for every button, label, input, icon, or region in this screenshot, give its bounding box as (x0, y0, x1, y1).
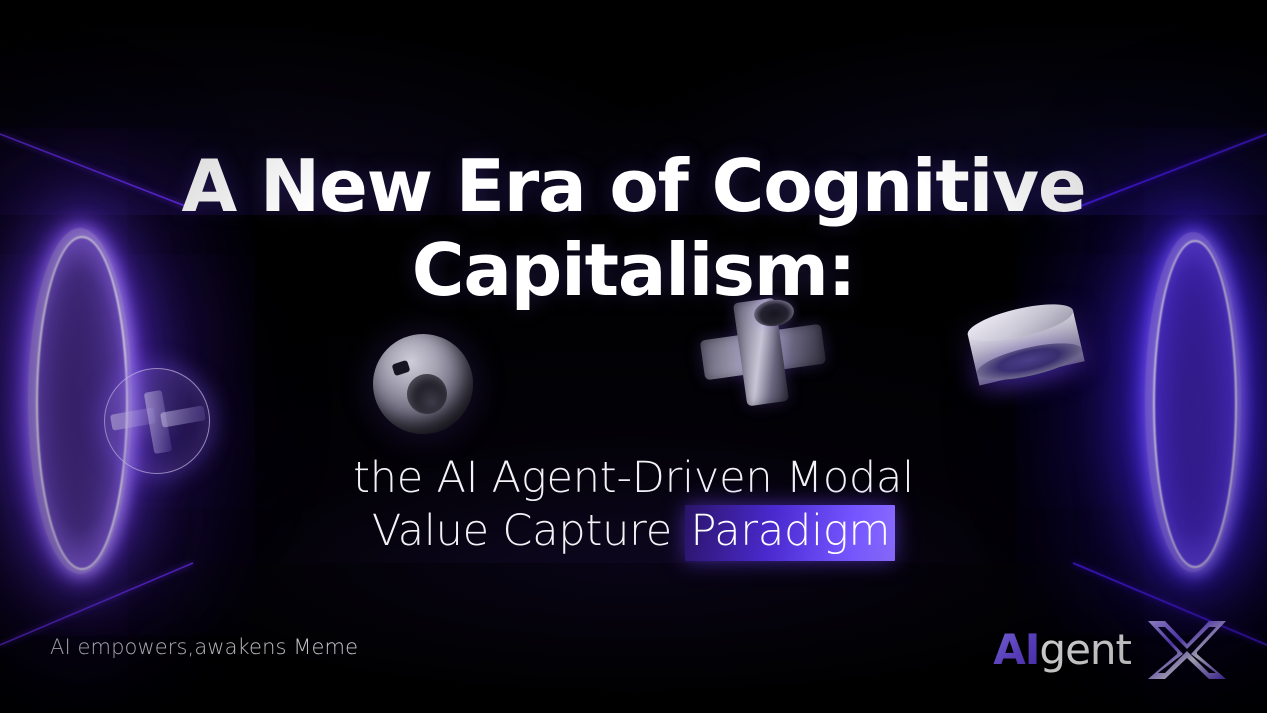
brand-wordmark-ai: AI (993, 625, 1039, 674)
subtitle-highlight-word: Paradigm (685, 505, 895, 561)
subtitle-line-2: Value Capture Paradigm (0, 505, 1267, 558)
title-line-2: Capitalism: (0, 228, 1267, 312)
subtitle-line-1: the AI Agent-Driven Modal (0, 452, 1267, 505)
presentation-slide: A New Era of Cognitive Capitalism: the A… (0, 0, 1267, 713)
brand-wordmark: AIgent (993, 629, 1131, 671)
brand-wordmark-gent: gent (1039, 625, 1131, 674)
tagline-caption: AI empowers,awakens Meme (50, 635, 358, 659)
subtitle-line-2-prefix: Value Capture (372, 506, 686, 556)
perspective-room (0, 0, 1267, 713)
brand-logo[interactable]: AIgent (993, 618, 1229, 682)
x-mark-icon (1145, 618, 1229, 682)
page-title: A New Era of Cognitive Capitalism: (0, 144, 1267, 312)
room-wireframe (0, 0, 1267, 713)
title-line-1: A New Era of Cognitive (0, 144, 1267, 228)
page-subtitle: the AI Agent-Driven Modal Value Capture … (0, 452, 1267, 559)
